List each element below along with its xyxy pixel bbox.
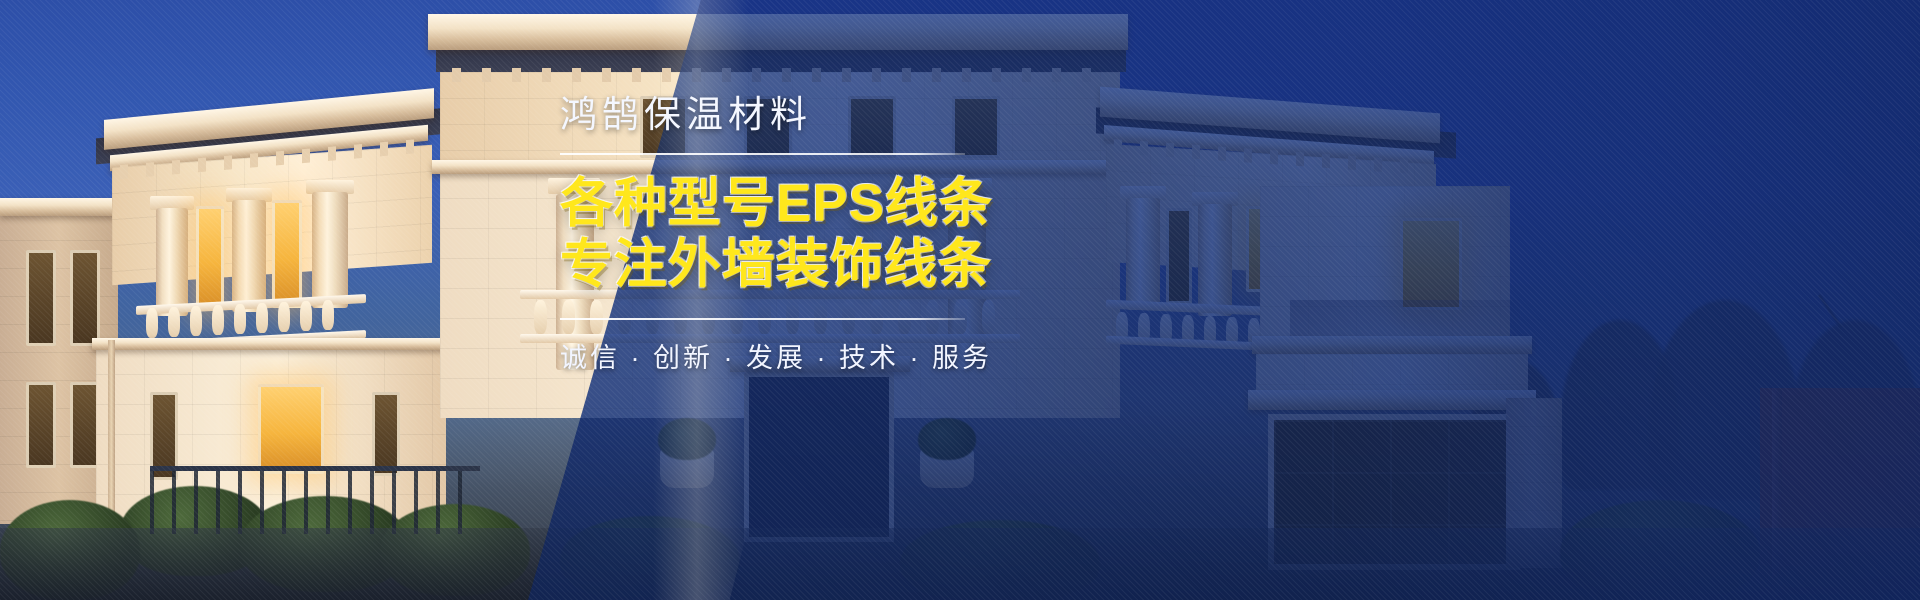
brand-name: 鸿鹄保温材料 xyxy=(560,95,1030,136)
divider-top xyxy=(560,153,965,155)
headline-group: 各种型号EPS线条 专注外墙装饰线条 xyxy=(560,173,1030,296)
overlay-right-fade xyxy=(1344,0,1920,600)
hero-banner: 鸿鹄保温材料 各种型号EPS线条 专注外墙装饰线条 诚信 · 创新 · 发展 ·… xyxy=(0,0,1920,600)
tagline: 诚信 · 创新 · 发展 · 技术 · 服务 xyxy=(560,336,1030,375)
headline-line-2: 专注外墙装饰线条 xyxy=(560,234,1030,295)
banner-text-block: 鸿鹄保温材料 各种型号EPS线条 专注外墙装饰线条 诚信 · 创新 · 发展 ·… xyxy=(560,95,1030,375)
divider-bottom xyxy=(560,318,965,320)
headline-line-1: 各种型号EPS线条 xyxy=(560,173,1030,234)
